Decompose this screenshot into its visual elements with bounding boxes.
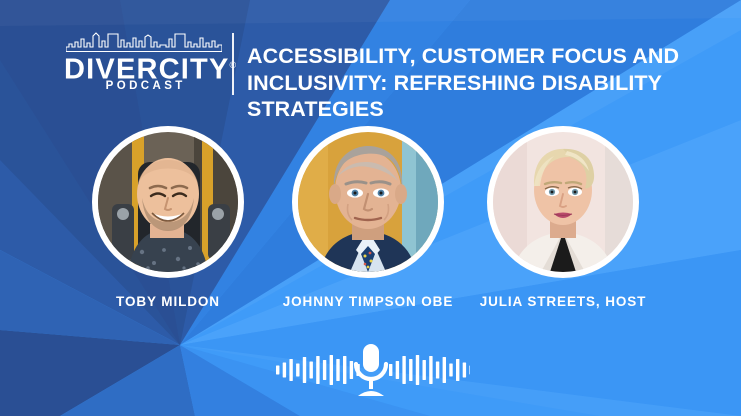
speaker-card-johnny-timpson[interactable]: Johnny Timpson OBE xyxy=(280,126,456,310)
waveform-bar xyxy=(389,364,392,376)
avatar-photo-julia-streets xyxy=(493,132,633,272)
waveform-bar xyxy=(350,361,353,379)
waveform-bar xyxy=(283,363,286,378)
speaker-list: Toby Mildon xyxy=(0,126,741,336)
waveform-bar xyxy=(449,364,452,377)
microphone-icon xyxy=(356,344,386,396)
waveform-bar xyxy=(429,356,432,384)
header-divider xyxy=(232,33,234,95)
waveform-bar xyxy=(330,355,333,385)
waveform-bar xyxy=(469,366,470,375)
city-skyline-icon xyxy=(66,30,222,52)
waveform-bar xyxy=(463,363,466,378)
waveform-bar xyxy=(436,362,439,379)
audio-waveform-icon xyxy=(272,342,470,398)
avatar-clip xyxy=(493,132,633,272)
avatar[interactable] xyxy=(292,126,444,278)
waveform-bar xyxy=(456,359,459,381)
avatar-clip xyxy=(298,132,438,272)
avatar[interactable] xyxy=(92,126,244,278)
waveform-bar xyxy=(303,357,306,383)
waveform-bar xyxy=(409,359,412,381)
waveform-bar xyxy=(316,356,319,384)
avatar[interactable] xyxy=(487,126,639,278)
speaker-card-julia-streets[interactable]: Julia Streets, Host xyxy=(475,126,651,310)
waveform-bar xyxy=(416,355,419,385)
podcast-episode-card: DIVERCITY® PODCAST Accessibility, custom… xyxy=(0,0,741,416)
waveform-bar xyxy=(310,362,313,379)
audio-mark xyxy=(272,342,470,398)
waveform-bar xyxy=(423,360,426,380)
speaker-name: Johnny Timpson OBE xyxy=(280,294,456,310)
waveform-bar xyxy=(402,356,405,384)
speaker-card-toby-mildon[interactable]: Toby Mildon xyxy=(80,126,256,310)
speaker-name: Julia Streets, Host xyxy=(475,294,651,310)
waveform-bar xyxy=(289,359,292,381)
waveform-bar xyxy=(396,361,399,379)
waveform-bar xyxy=(296,364,299,377)
avatar-clip xyxy=(98,132,238,272)
waveform-bar xyxy=(336,359,339,381)
episode-title: Accessibility, customer focus and inclus… xyxy=(247,43,717,123)
avatar-photo-toby-mildon xyxy=(98,132,238,272)
waveform-bar xyxy=(443,357,446,383)
brand-tagline: PODCAST xyxy=(64,80,224,93)
card-header: DIVERCITY® PODCAST Accessibility, custom… xyxy=(0,0,741,118)
waveform-bar xyxy=(323,360,326,380)
waveform-bar xyxy=(276,366,279,375)
waveform-bar xyxy=(343,356,346,384)
brand-logo: DIVERCITY® PODCAST xyxy=(64,30,224,94)
avatar-photo-johnny-timpson xyxy=(298,132,438,272)
speaker-name: Toby Mildon xyxy=(80,294,256,310)
